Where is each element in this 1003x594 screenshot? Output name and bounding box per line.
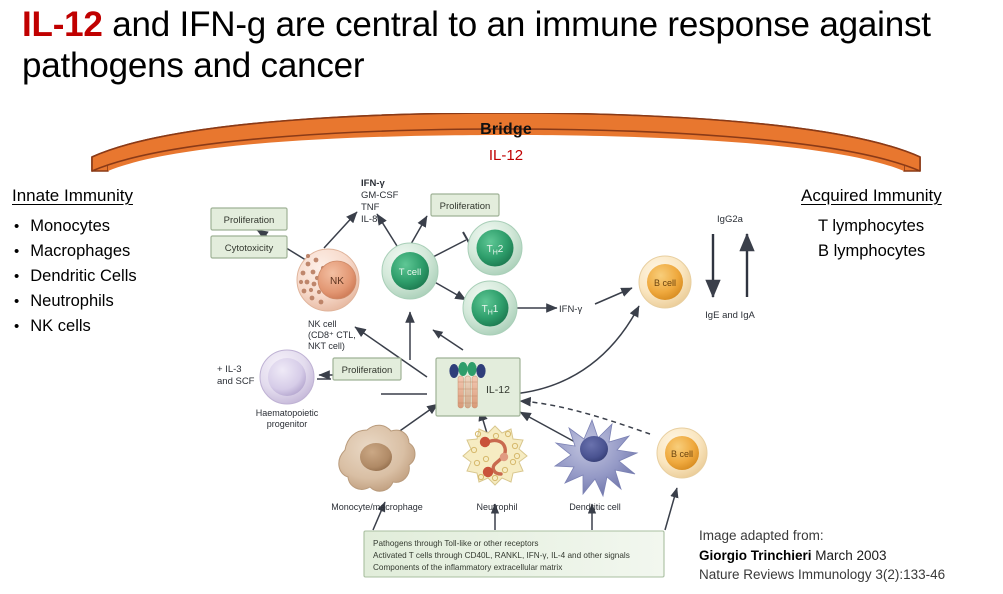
- immune-pathway-diagram: Proliferation Cytotoxicity Proliferation…: [195, 172, 810, 587]
- monocyte-macrophage-node: Monocyte/macrophage: [331, 425, 423, 512]
- credit-line-3: Nature Reviews Immunology 3(2):133-46: [699, 565, 999, 585]
- slide-title: IL-12 and IFN-g are central to an immune…: [22, 4, 982, 87]
- proliferation-nk-label: Proliferation: [224, 215, 275, 226]
- igg2a-label: IgG2a: [717, 214, 744, 225]
- credit-author: Giorgio Trinchieri: [699, 548, 812, 563]
- list-item-label: B lymphocytes: [818, 239, 998, 264]
- credit-line-2: Giorgio Trinchieri March 2003: [699, 546, 999, 566]
- cytotoxicity-label: Cytotoxicity: [225, 243, 274, 254]
- credit-line-1: Image adapted from:: [699, 526, 999, 546]
- scf-label: and SCF: [217, 376, 255, 387]
- il-8-label: IL-8: [361, 214, 377, 225]
- bridge-label: Bridge: [86, 121, 926, 139]
- neutrophil-label: Neutrophil: [476, 502, 517, 512]
- b-cell-bottom-node: B cell: [657, 428, 707, 478]
- title-rest: and IFN-g are central to an immune respo…: [22, 5, 931, 85]
- credit-date: March 2003: [812, 548, 887, 563]
- innate-immunity-heading: Innate Immunity: [12, 186, 133, 206]
- acquired-immunity-heading: Acquired Immunity: [801, 186, 942, 206]
- stimuli-line-2: Activated T cells through CD40L, RANKL, …: [373, 551, 630, 560]
- ifn-gamma-label: IFN-γ: [361, 178, 385, 189]
- dendritic-label: Dendritic cell: [569, 502, 621, 512]
- gm-csf-label: GM-CSF: [361, 190, 399, 201]
- stimuli-line-3: Components of the inflammatory extracell…: [373, 563, 562, 572]
- list-item-label: NK cells: [30, 314, 91, 339]
- neutrophil-node: Neutrophil: [463, 426, 527, 512]
- bridge-banner: Bridge IL-12: [86, 113, 926, 175]
- list-item-label: Neutrophils: [30, 289, 113, 314]
- il12-label: IL-12: [486, 384, 510, 396]
- b-cell-top-label: B cell: [654, 278, 676, 288]
- monocyte-label: Monocyte/macrophage: [331, 502, 423, 512]
- list-item-label: Dendritic Cells: [30, 264, 136, 289]
- nk-core-label: NK: [330, 276, 344, 287]
- ifn-gamma-th1-label: IFN-γ: [559, 304, 582, 315]
- image-credit: Image adapted from: Giorgio Trinchieri M…: [699, 526, 999, 585]
- th2-post: 2: [498, 244, 504, 255]
- acquired-immunity-list: T lymphocytes B lymphocytes: [818, 214, 998, 264]
- list-item: •Neutrophils: [14, 289, 224, 314]
- proliferation-tcell-label: Proliferation: [440, 201, 491, 212]
- innate-immunity-list: •Monocytes •Macrophages •Dendritic Cells…: [14, 214, 224, 339]
- bullet-icon: •: [14, 289, 19, 314]
- t-cell-node: T cell: [382, 243, 438, 299]
- bullet-icon: •: [14, 214, 19, 239]
- th1-post: 1: [493, 304, 499, 315]
- list-item: •Monocytes: [14, 214, 224, 239]
- list-item: •Dendritic Cells: [14, 264, 224, 289]
- haematopoietic-progenitor-node: Haematopoietic progenitor: [256, 350, 319, 429]
- list-item-label: Monocytes: [30, 214, 110, 239]
- slide-canvas: IL-12 and IFN-g are central to an immune…: [0, 0, 1003, 594]
- dendritic-cell-node: Dendritic cell: [555, 420, 637, 512]
- progenitor-label-1: Haematopoietic: [256, 408, 319, 418]
- ige-iga-label: IgE and IgA: [705, 310, 755, 321]
- bullet-icon: •: [14, 264, 19, 289]
- bridge-sublabel: IL-12: [86, 147, 926, 164]
- b-cell-top-node: B cell: [639, 256, 691, 308]
- title-highlight: IL-12: [22, 5, 103, 44]
- nk-cell-label-2: (CD8⁺ CTL,: [308, 330, 356, 340]
- il12-molecule-box: IL-12: [436, 358, 520, 416]
- b-cell-bottom-label: B cell: [671, 449, 693, 459]
- stimuli-line-1: Pathogens through Toll-like or other rec…: [373, 539, 539, 548]
- bullet-icon: •: [14, 239, 19, 264]
- tnf-label: TNF: [361, 202, 380, 213]
- nk-cell-node: NK NK cell (CD8⁺ CTL, NKT cell): [297, 249, 359, 351]
- proliferation-progenitor-label: Proliferation: [342, 365, 393, 376]
- list-item-label: Macrophages: [30, 239, 130, 264]
- list-item: •Macrophages: [14, 239, 224, 264]
- il3-label: + IL-3: [217, 364, 242, 375]
- t-cell-label: T cell: [399, 267, 422, 278]
- nk-cell-label-3: NKT cell): [308, 341, 345, 351]
- stimuli-box: Pathogens through Toll-like or other rec…: [364, 531, 664, 577]
- nk-cell-label-1: NK cell: [308, 319, 337, 329]
- th2-cell-node: TH2: [468, 221, 522, 275]
- th1-cell-node: TH1: [463, 281, 517, 335]
- list-item-label: T lymphocytes: [818, 214, 998, 239]
- progenitor-label-2: progenitor: [267, 419, 308, 429]
- list-item: •NK cells: [14, 314, 224, 339]
- bullet-icon: •: [14, 314, 19, 339]
